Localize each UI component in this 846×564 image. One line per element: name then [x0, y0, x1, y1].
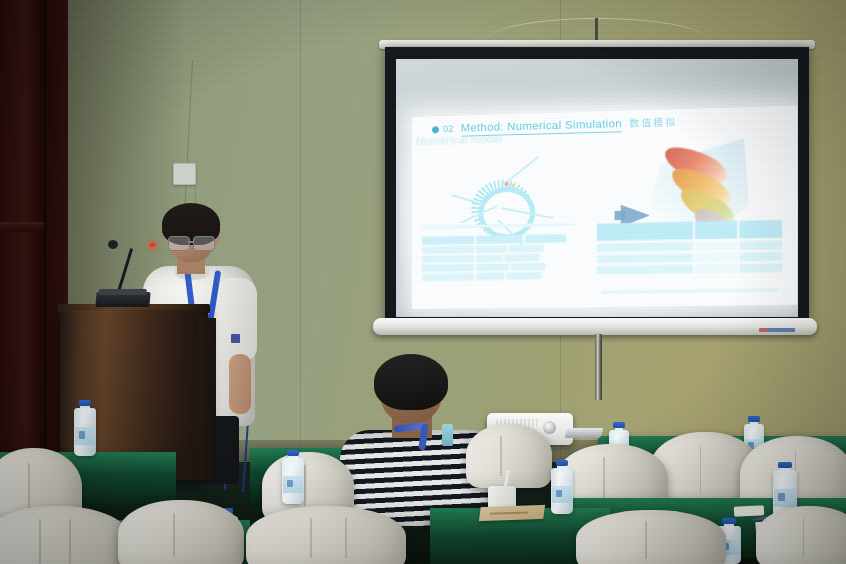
boundary-conditions-table: [597, 220, 784, 277]
table-row: [422, 262, 585, 271]
bottle-cap: [778, 462, 791, 468]
screen-bottom-rail: [373, 318, 817, 335]
glasses-lens: [168, 236, 190, 251]
envelope-line: [490, 511, 528, 514]
table-row: [597, 264, 784, 275]
laptop-lid: [98, 289, 147, 295]
conference-room-photo: 02Method: Numerical Simulation数值模拟 Numer…: [0, 0, 846, 564]
bottle-cap: [748, 416, 759, 422]
projection-screen: 02Method: Numerical Simulation数值模拟 Numer…: [385, 36, 809, 366]
presenter-laptop[interactable]: [95, 292, 150, 307]
slide-section-number: 02: [443, 124, 454, 134]
table-footnote: [601, 288, 778, 293]
projected-slide: 02Method: Numerical Simulation数值模拟 Numer…: [412, 106, 797, 309]
table-row: [422, 234, 585, 245]
napkin: [734, 505, 764, 517]
glasses-lens: [193, 236, 215, 251]
screen-frame: 02Method: Numerical Simulation数值模拟 Numer…: [385, 47, 809, 323]
microphone-led-indicator: [150, 243, 155, 247]
screen-tripod-pole: [595, 334, 602, 400]
glasses-bridge: [188, 241, 194, 243]
manila-envelope[interactable]: [479, 505, 545, 521]
presenter-arm: [229, 354, 251, 414]
slide-title-cjk: 数值模拟: [629, 117, 677, 130]
eyeglasses-icon: [166, 236, 216, 249]
presenter-sleeve: [217, 278, 257, 360]
bottle-cap: [287, 450, 299, 456]
screen-hook: [595, 18, 598, 42]
mesh-parameters-table: [422, 234, 585, 283]
attendee-hair: [374, 354, 448, 410]
water-bottle[interactable]: [282, 450, 304, 504]
light-switch-icon[interactable]: [173, 163, 196, 185]
chair[interactable]: [756, 506, 846, 564]
bottle-cap: [79, 400, 91, 406]
brand-logo-icon: [759, 328, 795, 332]
table-row: [422, 244, 585, 254]
screen-surface: 02Method: Numerical Simulation数值模拟 Numer…: [396, 59, 798, 317]
bottle-cap: [556, 460, 568, 466]
wall-seam: [300, 0, 301, 470]
water-bottle[interactable]: [551, 460, 573, 514]
water-bottle[interactable]: [74, 400, 96, 456]
chair[interactable]: [466, 424, 552, 488]
table-row: [422, 253, 585, 263]
metal-tray: [564, 428, 603, 438]
slide-subtitle: Numerical model: [416, 134, 502, 148]
slide-title: 02Method: Numerical Simulation数值模拟: [432, 111, 791, 135]
chair[interactable]: [118, 500, 244, 564]
bullet-icon: [432, 126, 439, 133]
table-row: [597, 252, 784, 263]
chair[interactable]: [576, 510, 726, 564]
table-row: [597, 241, 784, 252]
bottle-cap: [722, 518, 735, 524]
table-header-row: [597, 220, 784, 241]
chair[interactable]: [246, 506, 406, 564]
bottle-cap: [613, 422, 624, 428]
marker-dot: [505, 182, 509, 186]
projector-lens-icon: [543, 421, 556, 434]
attendee-phone: [442, 424, 453, 446]
panel-trim: [0, 222, 44, 232]
shirt-logo-icon: [231, 334, 240, 343]
microphone-head-icon: [108, 240, 118, 249]
table-row: [422, 272, 585, 281]
podium-side-panel: [198, 318, 216, 480]
